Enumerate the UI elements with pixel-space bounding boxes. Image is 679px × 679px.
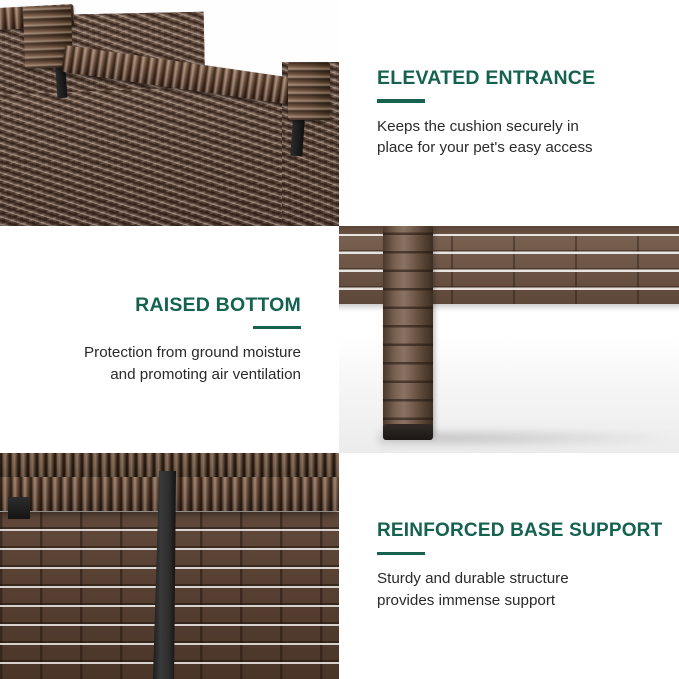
feature-description: Keeps the cushion securely in place for … [377,116,593,159]
feature-text-raised-bottom: RAISED BOTTOM Protection from ground moi… [0,226,339,453]
feature-description: Sturdy and durable structure provides im… [377,568,569,611]
title-accent-bar [377,552,425,556]
title-accent-bar [253,326,301,330]
feature-description-line-2: provides immense support [377,590,569,612]
photo-elevated-entrance [0,0,339,226]
corner-post-right [288,62,330,120]
feature-description-line-1: Protection from ground moisture [84,342,301,364]
feature-description-line-2: place for your pet's easy access [377,137,593,159]
feature-title: ELEVATED ENTRANCE [377,67,595,90]
metal-clip-left [8,497,30,519]
title-accent-bar [377,99,425,103]
feature-text-elevated-entrance: ELEVATED ENTRANCE Keeps the cushion secu… [339,0,679,226]
feature-description-line-2: and promoting air ventilation [84,364,301,386]
wicker-leg [383,226,433,436]
feature-text-reinforced-base-support: REINFORCED BASE SUPPORT Sturdy and durab… [339,453,679,679]
feature-description-line-1: Keeps the cushion securely in [377,116,593,138]
feature-infographic-grid: ELEVATED ENTRANCE Keeps the cushion secu… [0,0,679,679]
leg-foot-cap [383,424,433,440]
feature-description: Protection from ground moisture and prom… [84,342,301,385]
feature-description-line-1: Sturdy and durable structure [377,568,569,590]
feature-title: REINFORCED BASE SUPPORT [377,520,662,542]
photo-reinforced-base-support [0,453,339,679]
feature-title: RAISED BOTTOM [135,294,301,317]
photo-raised-bottom [339,226,679,453]
